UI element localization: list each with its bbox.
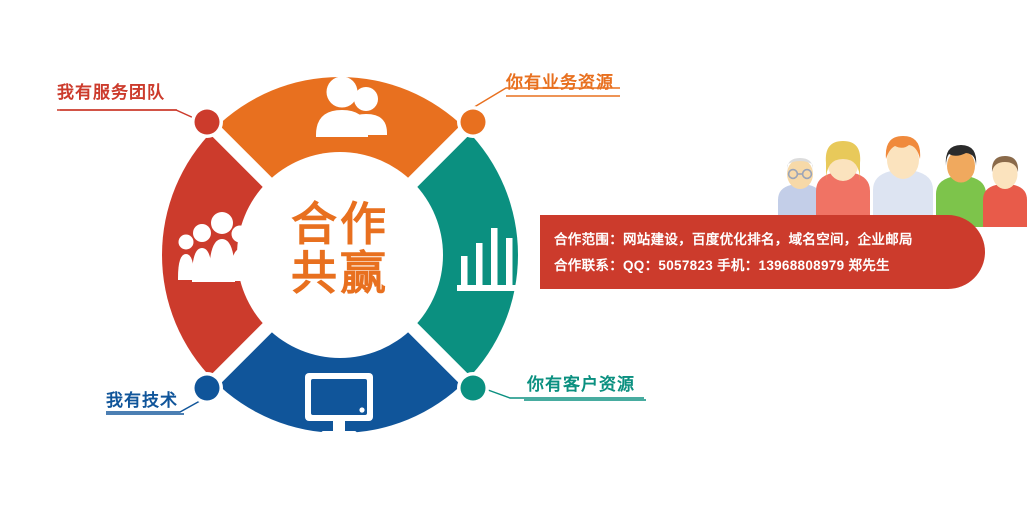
- infographic-canvas: 合作范围：网站建设，百度优化排名，域名空间，企业邮局 合作联系：QQ：50578…: [0, 0, 1030, 510]
- dot-tech-blue: [191, 372, 223, 404]
- dot-team-red: [191, 106, 223, 138]
- dot-cust-teal: [457, 372, 489, 404]
- dot-biz-orange: [457, 106, 489, 138]
- center-line-2: 共赢: [245, 249, 435, 298]
- label-customer-resource: 你有客户资源: [527, 376, 635, 393]
- label-service-team: 我有服务团队: [57, 84, 165, 101]
- label-business-resource: 你有业务资源: [506, 74, 614, 91]
- label-technology: 我有技术: [106, 392, 178, 409]
- center-wordmark: 合作 共赢: [245, 200, 435, 298]
- center-line-1: 合作: [245, 200, 435, 249]
